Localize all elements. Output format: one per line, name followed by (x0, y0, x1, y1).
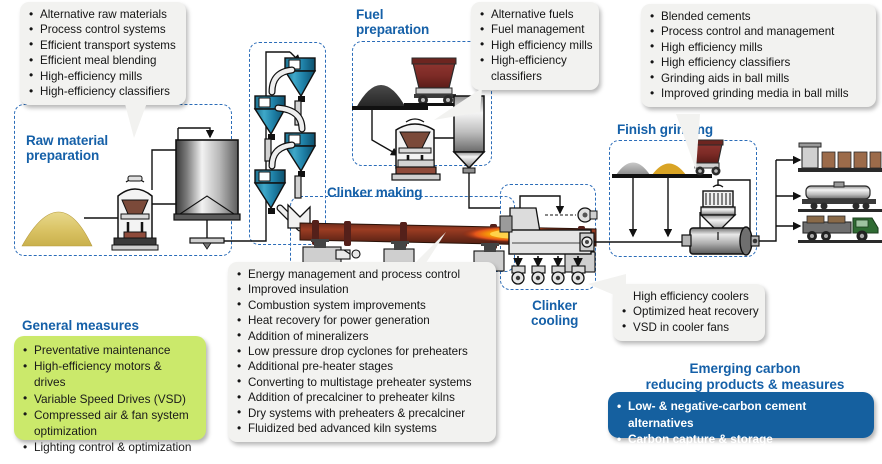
callout-raw-material-list: Alternative raw materials Process contro… (29, 7, 177, 99)
callout-fuel-list: Alternative fuels Fuel management High e… (480, 7, 590, 84)
list-item: Alternative fuels (480, 7, 590, 22)
high-efficiency-separator-icon (701, 185, 735, 232)
list-item: Efficient meal blending (29, 53, 177, 68)
vertical-raw-mill-icon (112, 176, 158, 250)
list-item: Process control and management (650, 24, 867, 39)
cooler-discharge-drive-icon (580, 233, 594, 251)
limestone-pile-icon (22, 212, 92, 246)
list-item: Efficient transport systems (29, 38, 177, 53)
list-item: High-efficiency motors & drives (22, 358, 196, 390)
callout-raw-material-preparation: Alternative raw materials Process contro… (20, 2, 186, 105)
list-item: Dry systems with preheaters & precalcine… (237, 406, 487, 421)
list-item: Fluidized bed advanced kiln systems (237, 421, 487, 436)
general-measures-title: General measures (22, 318, 139, 333)
emerging-measures-list: Low- & negative-carbon cement alternativ… (616, 398, 864, 448)
list-item: Low- & negative-carbon cement alternativ… (616, 398, 864, 431)
list-item: Grinding aids in ball mills (650, 71, 867, 86)
list-item: Optimized heat recovery (622, 304, 756, 319)
list-item: Additional pre-heater stages (237, 359, 487, 374)
list-item: Blended cements (650, 9, 867, 24)
list-item: Low pressure drop cyclones for preheater… (237, 344, 487, 359)
callout-tail-raw-material (118, 98, 158, 140)
list-item: Addition of mineralizers (237, 329, 487, 344)
coal-mill-icon (392, 119, 440, 180)
list-item: Heat recovery for power generation (237, 313, 487, 328)
callout-clinker-cooling-list: High efficiency coolers Optimized heat r… (622, 289, 756, 335)
list-item: Combustion system improvements (237, 298, 487, 313)
emerging-measures-title: Emerging carbon reducing products & meas… (620, 361, 870, 393)
list-item: Compressed air & fan system optimization (22, 407, 196, 439)
list-item: Process control systems (29, 22, 177, 37)
callout-finish-grinding: Blended cements Process control and mana… (641, 4, 876, 107)
callout-clinker-making: Energy management and process control Im… (228, 262, 496, 442)
cyclone-preheater-tower-icon (255, 58, 315, 228)
callout-tail-clinker-cooling (584, 270, 630, 310)
callout-tail-fuel (430, 86, 488, 124)
callout-clinker-making-list: Energy management and process control Im… (237, 267, 487, 436)
list-item: Fuel management (480, 22, 590, 37)
list-item: Lighting control & optimization (22, 439, 196, 455)
list-item: Improved insulation (237, 282, 487, 297)
bulk-cement-truck-icon (798, 216, 882, 243)
diagram-canvas: Raw material preparation Fuel preparatio… (0, 0, 882, 464)
callout-finish-grinding-list: Blended cements Process control and mana… (650, 9, 867, 101)
general-measures-panel: Preventative maintenance High-efficiency… (14, 336, 206, 440)
list-item: Carbon capture & storage (616, 431, 864, 448)
callout-fuel-preparation: Alternative fuels Fuel management High e… (471, 2, 599, 90)
emerging-measures-panel: Low- & negative-carbon cement alternativ… (608, 392, 874, 438)
list-item: Alternative raw materials (29, 7, 177, 22)
cooler-exhaust-fan-icon (578, 208, 597, 222)
list-item: High efficiency coolers (622, 289, 756, 304)
list-item: High efficiency classifiers (650, 55, 867, 70)
list-item: Preventative maintenance (22, 342, 196, 358)
rail-tanker-icon (798, 182, 882, 212)
list-item: VSD in cooler fans (622, 320, 756, 335)
callout-clinker-cooling: High efficiency coolers Optimized heat r… (613, 284, 765, 341)
list-item: High efficiency mills (480, 38, 590, 53)
general-measures-list: Preventative maintenance High-efficiency… (22, 342, 196, 455)
blending-silo-icon (174, 140, 240, 249)
list-item: Variable Speed Drives (VSD) (22, 391, 196, 407)
callout-tail-clinker-making (400, 230, 450, 274)
list-item: Improved grinding media in ball mills (650, 86, 867, 101)
callout-tail-finish-grinding (672, 112, 712, 172)
list-item: Addition of precalciner to preheater kil… (237, 390, 487, 405)
ball-mill-icon (682, 227, 759, 255)
grate-cooler-icon (500, 196, 597, 284)
list-item: High-efficiency mills (29, 69, 177, 84)
list-item: Converting to multistage preheater syste… (237, 375, 487, 390)
list-item: High-efficiency classifiers (480, 53, 590, 84)
list-item: High efficiency mills (650, 40, 867, 55)
bagged-cement-warehouse-icon (798, 143, 882, 172)
